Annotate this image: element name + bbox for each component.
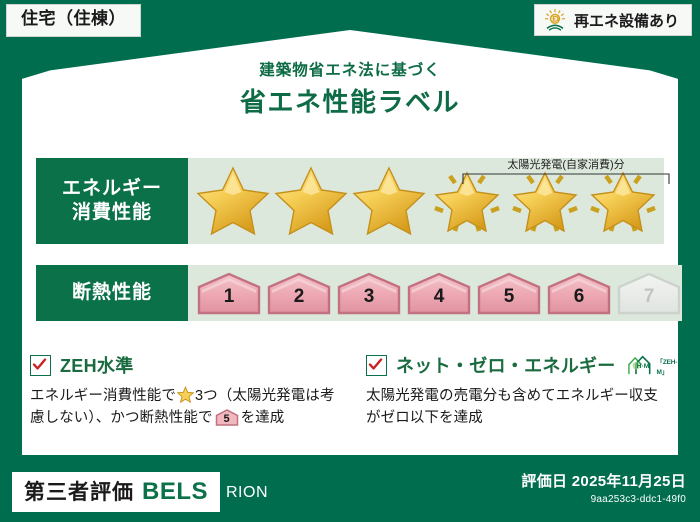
bels-certification-mark: 第三者評価 BELS (12, 472, 220, 512)
insulation-level-1: 1 (196, 271, 262, 315)
criterion-nze-body: 太陽光発電の売電分も含めてエネルギー収支がゼロ以下を達成 (366, 385, 672, 430)
inline-house-number: 5 (215, 409, 239, 426)
criterion-zeh-header: ZEH水準 (30, 352, 348, 378)
criterion-zeh-text-3: を達成 (241, 410, 285, 426)
insulation-level-3: 3 (336, 271, 402, 315)
insulation-level-number: 3 (336, 271, 402, 315)
criterion-zeh-text-1: エネルギー消費性能で (30, 388, 176, 404)
evaluation-date: 評価日 2025年11月25日 (521, 470, 686, 491)
inline-star-icon (177, 386, 194, 403)
star-5 (506, 162, 584, 240)
energy-performance-label: エネルギー 消費性能 (36, 158, 188, 244)
star-rating (188, 158, 670, 244)
evaluation-id: 9aa253c3-ddc1-49f0 (521, 494, 686, 505)
title-subtitle: 建築物省エネ法に基づく (0, 62, 700, 81)
zeh-m-caption: 「ZEH-M」 (657, 356, 684, 378)
insulation-rating-area: 1 2 3 (188, 265, 682, 321)
renewable-badge-label: 再エネ設備あり (574, 10, 679, 31)
bels-jp-label: 第三者評価 (24, 476, 134, 506)
solar-sun-icon (543, 8, 567, 32)
criterion-zeh-body: エネルギー消費性能で3つ（太陽光発電は考慮しない）、かつ断熱性能で5を達成 (30, 385, 348, 430)
star-4 (428, 162, 506, 240)
footer-bar: 第三者評価 BELS RION 評価日 2025年11月25日 9aa253c3… (0, 460, 700, 522)
checkbox-checked-icon (366, 355, 387, 376)
evaluation-info: 評価日 2025年11月25日 9aa253c3-ddc1-49f0 (521, 470, 686, 505)
insulation-level-number: 7 (616, 271, 682, 315)
energy-rating-area: 太陽光発電(自家消費)分 (188, 158, 664, 244)
criterion-net-zero-energy: ネット・ゼロ・エネルギー H·M 「ZEH-M」 太陽光発電の売電分も含めてエネ… (366, 352, 672, 430)
svg-text:H·M: H·M (636, 363, 649, 370)
energy-performance-row: エネルギー 消費性能 (36, 158, 664, 244)
checkbox-checked-icon (30, 355, 51, 376)
insulation-level-number: 6 (546, 271, 612, 315)
building-type-tag: 住宅（住棟） (6, 4, 141, 37)
renewable-equipment-badge: 再エネ設備あり (534, 4, 692, 36)
criterion-nze-title: ネット・ゼロ・エネルギー (396, 352, 616, 378)
criterion-zeh: ZEH水準 エネルギー消費性能で3つ（太陽光発電は考慮しない）、かつ断熱性能で5… (30, 352, 348, 430)
star-1 (194, 162, 272, 240)
insulation-level-6: 6 (546, 271, 612, 315)
criterion-zeh-title: ZEH水準 (60, 352, 134, 378)
star-6 (584, 162, 662, 240)
insulation-level-4: 4 (406, 271, 472, 315)
inline-house-5-icon: 5 (215, 409, 239, 426)
insulation-performance-label: 断熱性能 (36, 265, 188, 321)
star-2 (272, 162, 350, 240)
criterion-nze-header: ネット・ゼロ・エネルギー H·M 「ZEH-M」 (366, 352, 672, 378)
insulation-level-scale: 1 2 3 (188, 271, 682, 315)
page-title: 建築物省エネ法に基づく 省エネ性能ラベル (0, 62, 700, 118)
zeh-m-logo: H·M 「ZEH-M」 (626, 352, 684, 378)
insulation-level-number: 2 (266, 271, 332, 315)
insulation-level-2: 2 (266, 271, 332, 315)
star-3 (350, 162, 428, 240)
insulation-level-number: 5 (476, 271, 542, 315)
energy-label-card: 住宅（住棟） 再エネ設備あり 建築物省エ (0, 0, 700, 522)
zeh-m-house-icon: H·M (626, 352, 656, 378)
insulation-level-number: 4 (406, 271, 472, 315)
rion-label: RION (226, 484, 268, 502)
insulation-performance-row: 断熱性能 (36, 265, 664, 321)
insulation-level-7: 7 (616, 271, 682, 315)
bels-en-label: BELS (142, 478, 208, 506)
insulation-level-number: 1 (196, 271, 262, 315)
insulation-level-5: 5 (476, 271, 542, 315)
title-main: 省エネ性能ラベル (0, 87, 700, 118)
